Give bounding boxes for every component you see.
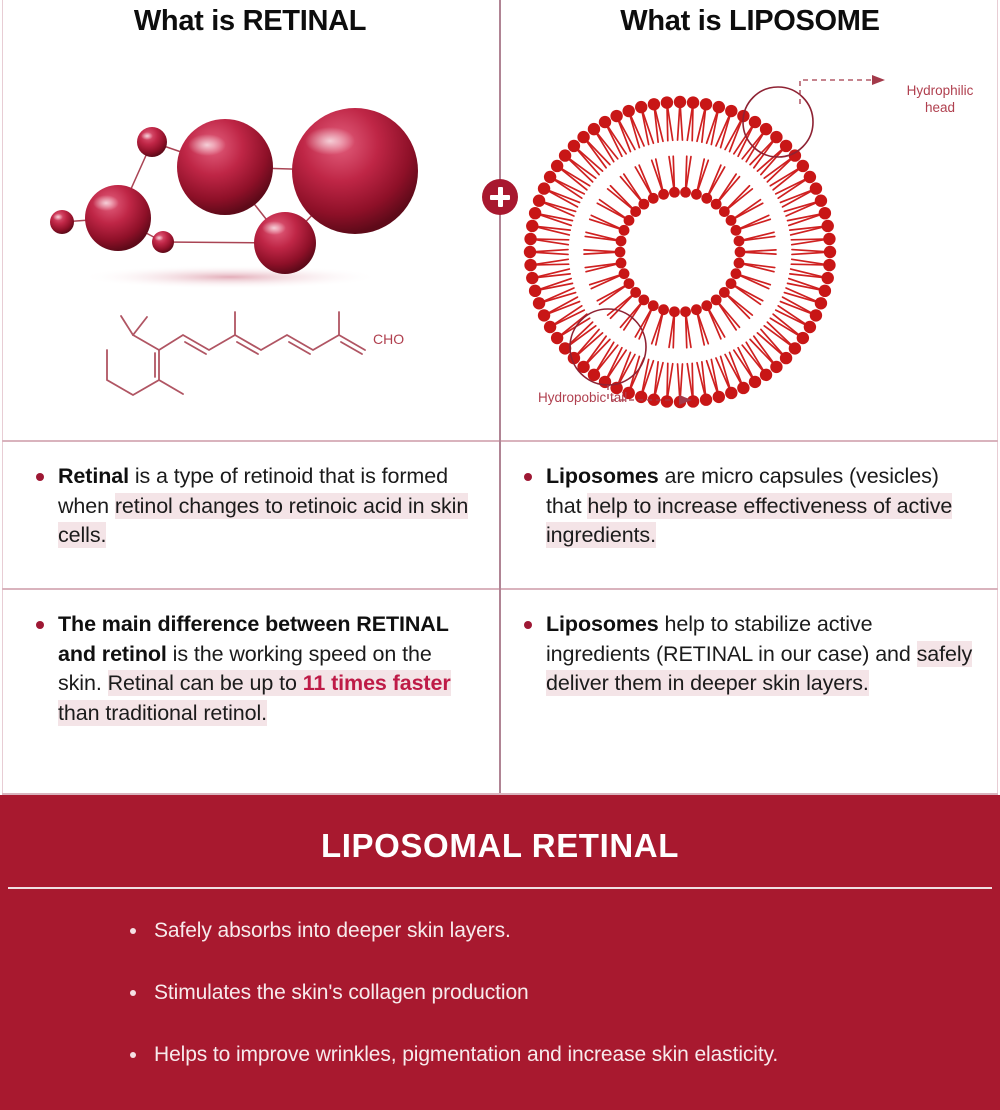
right-edge-rule <box>997 0 998 795</box>
panel-text: Retinal is a type of retinoid that is fo… <box>58 462 476 551</box>
panel-text: Liposomes are micro capsules (vesicles) … <box>546 462 976 551</box>
panel-text: The main difference between RETINAL and … <box>58 610 476 729</box>
highlighted-text: than traditional retinol. <box>58 700 267 726</box>
heading-cell-right: What is LIPOSOME <box>500 0 1000 48</box>
emphasis-text: Liposomes <box>546 612 659 636</box>
emphasis-text: Liposomes <box>546 464 659 488</box>
page-title-liposome: What is LIPOSOME <box>620 0 879 38</box>
left-edge-rule <box>2 0 3 795</box>
banner-divider-rule <box>8 887 992 889</box>
panel-retinal-difference: The main difference between RETINAL and … <box>36 610 476 729</box>
highlighted-text: help to increase effectiveness of active… <box>546 493 952 549</box>
label-hydrophobic-tail: Hydropobic tail <box>538 390 627 407</box>
bullet-dot-icon <box>130 990 136 996</box>
panel-retinal-definition: Retinal is a type of retinoid that is fo… <box>36 462 476 551</box>
list-item: Safely absorbs into deeper skin layers. <box>130 917 950 946</box>
highlighted-text: retinol changes to retinoic acid in skin… <box>58 493 468 549</box>
panel-liposome-definition: Liposomes are micro capsules (vesicles) … <box>524 462 976 551</box>
liposomal-retinal-banner: LIPOSOMAL RETINAL Safely absorbs into de… <box>0 795 1000 1110</box>
emphasis-text: Retinal <box>58 464 129 488</box>
list-item-label: Safely absorbs into deeper skin layers. <box>154 917 511 946</box>
list-item: Stimulates the skin's collagen productio… <box>130 979 950 1008</box>
panel-liposome-stabilize: Liposomes help to stabilize active ingre… <box>524 610 976 699</box>
heading-cell-left: What is RETINAL <box>0 0 500 48</box>
label-hydrophilic-head: Hydrophilic head <box>892 83 988 117</box>
infographic-page: What is RETINAL What is LIPOSOME <box>0 0 1000 1110</box>
divider-rule-vertical <box>499 0 501 793</box>
bullet-dot-icon <box>524 473 532 481</box>
list-item-label: Stimulates the skin's collagen productio… <box>154 979 529 1008</box>
bullet-dot-icon <box>524 621 532 629</box>
bullet-dot-icon <box>130 928 136 934</box>
bullet-dot-icon <box>130 1052 136 1058</box>
banner-benefits-list: Safely absorbs into deeper skin layers. … <box>130 917 950 1070</box>
page-title-retinal: What is RETINAL <box>134 0 366 38</box>
plus-icon <box>482 179 518 215</box>
list-item-label: Helps to improve wrinkles, pigmentation … <box>154 1041 778 1070</box>
list-item: Helps to improve wrinkles, pigmentation … <box>130 1041 950 1070</box>
accent-highlighted-text: 11 times faster <box>303 670 451 696</box>
highlighted-text: Retinal can be up to <box>108 670 303 696</box>
bullet-dot-icon <box>36 621 44 629</box>
cho-label: CHO <box>373 331 404 347</box>
retinal-skeletal-formula: CHO <box>85 298 415 403</box>
panel-text: Liposomes help to stabilize active ingre… <box>546 610 976 699</box>
molecule-spheres-illustration <box>30 85 450 300</box>
zoom-circle-tail <box>570 309 646 385</box>
bullet-dot-icon <box>36 473 44 481</box>
banner-title: LIPOSOMAL RETINAL <box>0 827 1000 865</box>
